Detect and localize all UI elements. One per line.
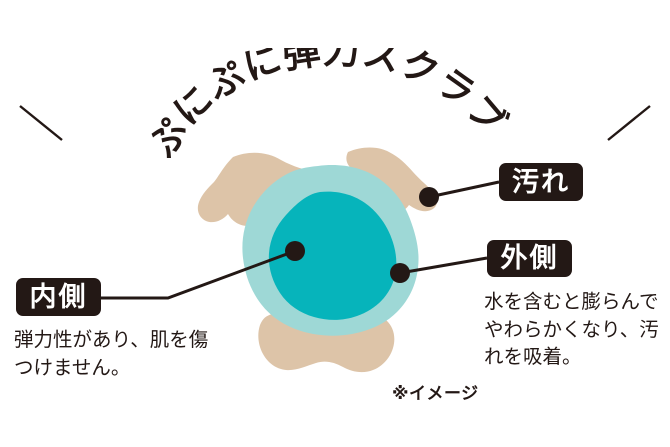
leader-dot-yogore — [419, 187, 439, 207]
leader-dot-sotogawa — [390, 263, 410, 283]
callout-badge-uchigawa: 内側 — [16, 278, 101, 316]
infographic-canvas: ぷにぷに弾力スクラブ♪ 汚れ 外側 内側 弾力性があり、肌を傷つけません。 — [0, 0, 670, 447]
callout-badge-sotogawa: 外側 — [487, 240, 572, 277]
leader-line-yogore — [429, 182, 499, 197]
callout-body-uchigawa: 弾力性があり、肌を傷つけません。 — [14, 326, 214, 381]
leader-dot-uchigawa — [285, 241, 305, 261]
footnote-image-disclaimer: ※イメージ — [392, 379, 479, 404]
callout-badge-yogore: 汚れ — [499, 163, 583, 201]
callout-body-sotogawa: 水を含むと膨らんでやわらかくなり、汚れを吸着。 — [484, 288, 664, 371]
